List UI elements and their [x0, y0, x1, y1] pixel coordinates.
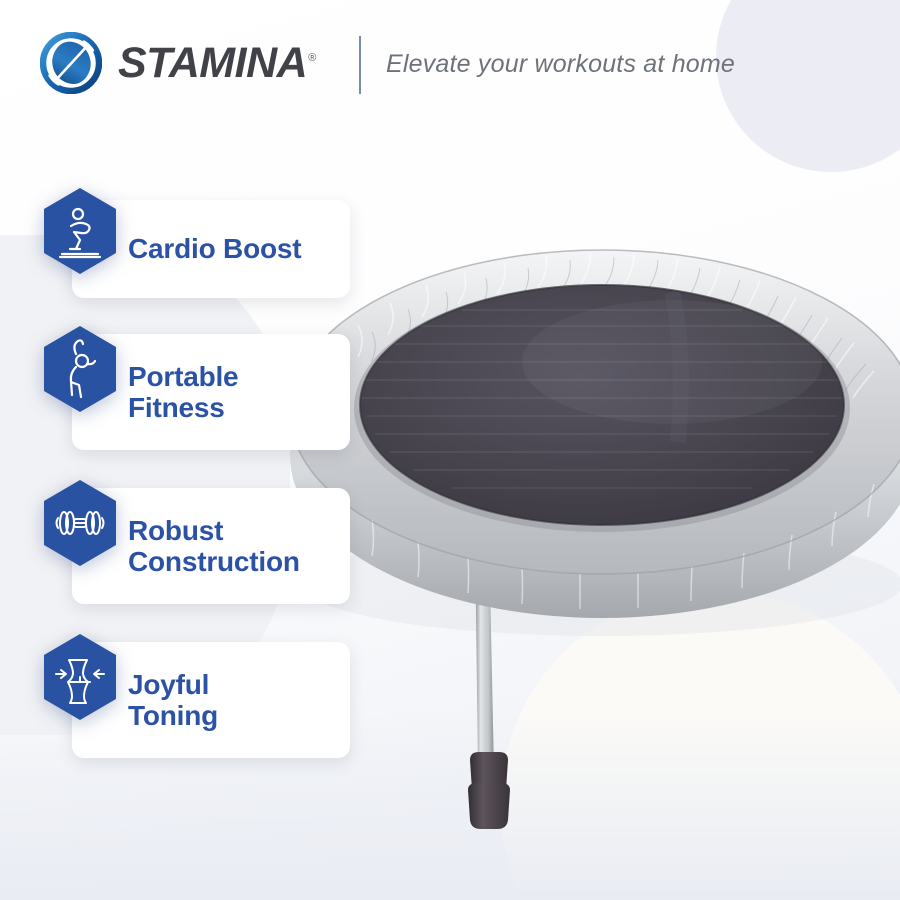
- feature-card-label: Cardio Boost: [128, 233, 301, 264]
- stamina-circle-slash-logo: [40, 32, 102, 94]
- treadmill-runner-icon: [40, 186, 120, 276]
- brand-wordmark: STAMINA®: [118, 42, 316, 85]
- header: STAMINA® Elevate your workouts at home: [0, 0, 900, 118]
- marketing-banner: STAMINA® Elevate your workouts at home C…: [0, 0, 900, 900]
- feature-card-joyful-toning[interactable]: Joyful Toning: [0, 632, 370, 760]
- registered-trademark-symbol: ®: [308, 52, 316, 64]
- header-divider: [359, 36, 361, 94]
- feature-card-label: Joyful Toning: [128, 669, 218, 732]
- feature-card-portable-fitness[interactable]: Portable Fitness: [0, 324, 370, 452]
- dumbbell-icon: [40, 478, 120, 568]
- feature-card-list: Cardio Boost Portable Fitness: [0, 186, 370, 786]
- brand-name: STAMINA: [118, 39, 307, 87]
- brand-tagline: Elevate your workouts at home: [386, 50, 735, 79]
- feature-card-label: Portable Fitness: [128, 361, 238, 424]
- slim-waist-arrows-icon: [40, 632, 120, 722]
- feature-card-label: Robust Construction: [128, 515, 300, 578]
- brand-logo[interactable]: STAMINA®: [40, 32, 316, 94]
- feature-card-robust-construction[interactable]: Robust Construction: [0, 478, 370, 606]
- feature-card-cardio-boost[interactable]: Cardio Boost: [0, 186, 370, 298]
- stretching-person-icon: [40, 324, 120, 414]
